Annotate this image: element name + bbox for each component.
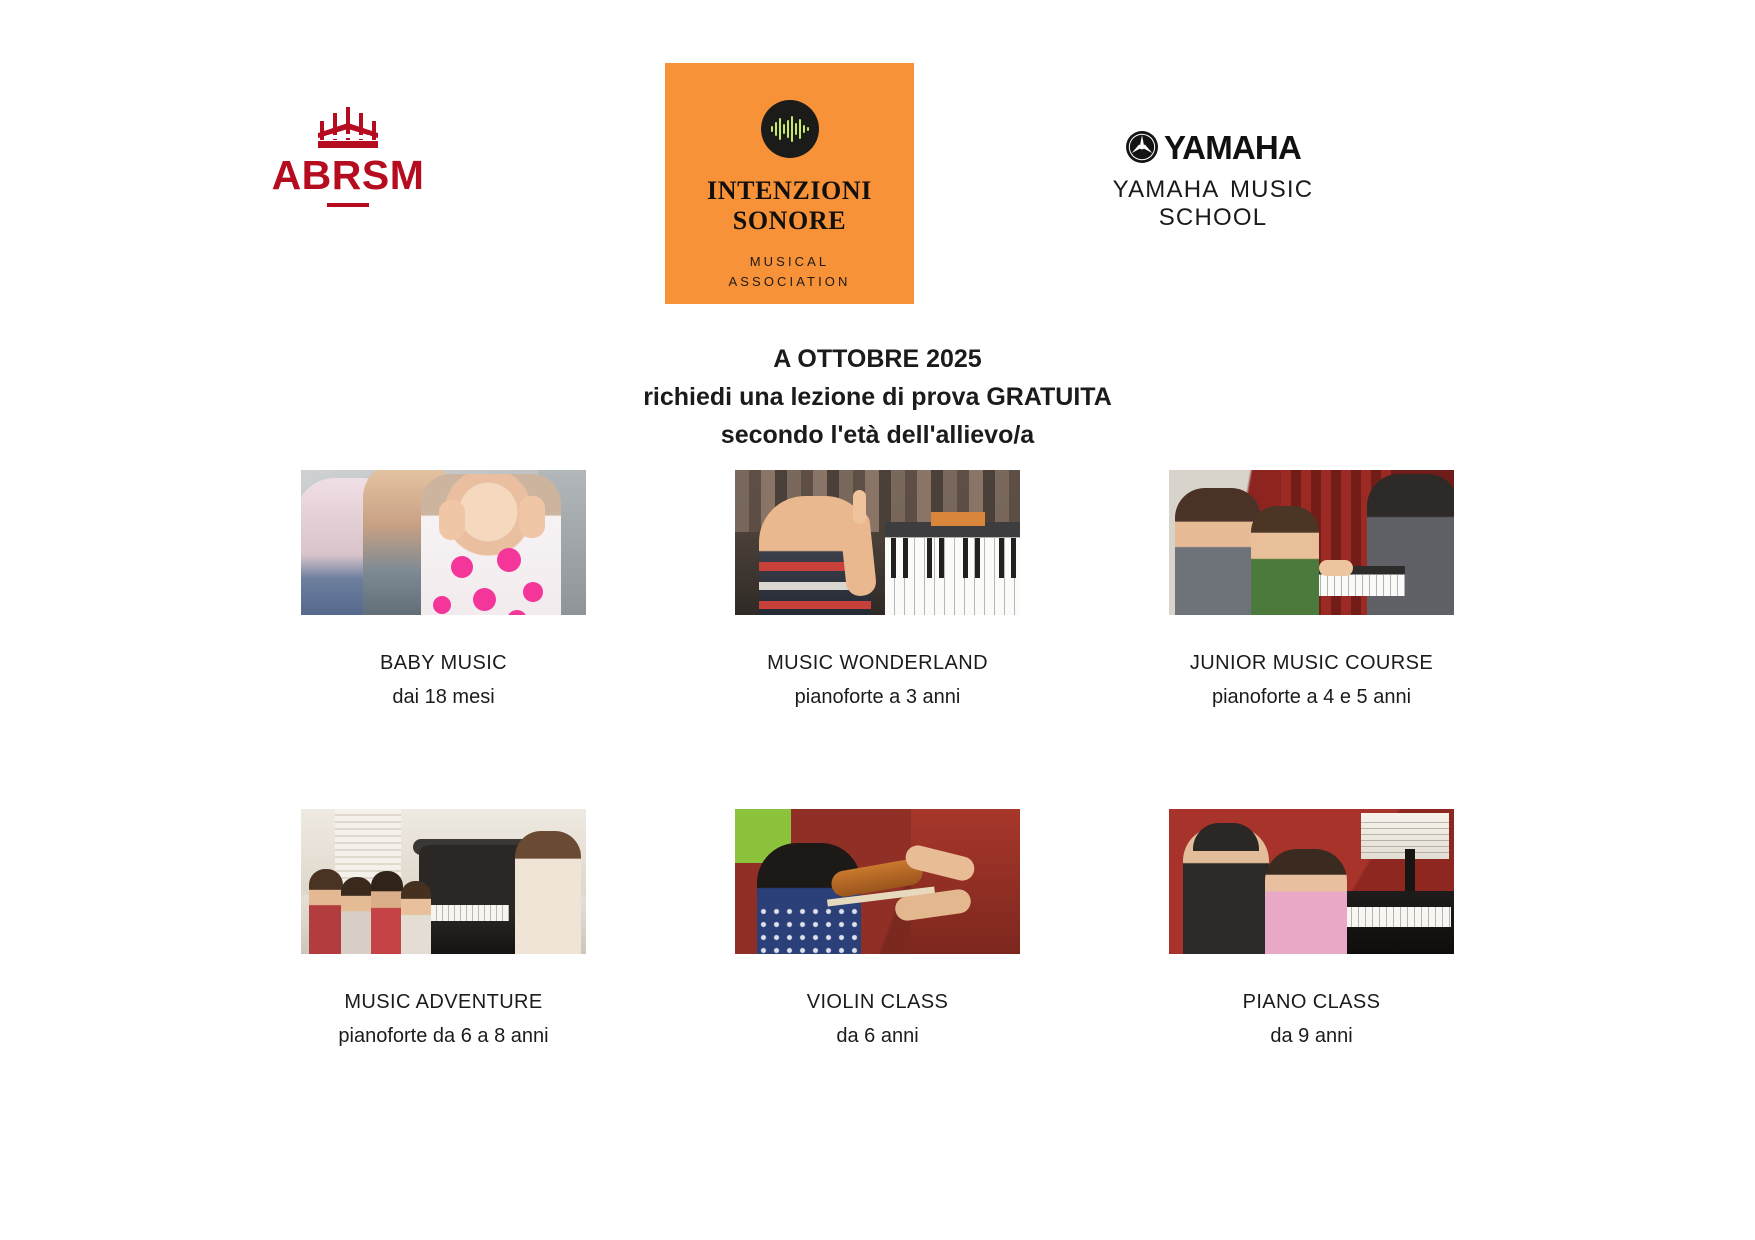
headline-line-2: richiedi una lezione di prova GRATUITA: [0, 378, 1755, 416]
intenzioni-sonore-logo: INTENZIONI SONORE MUSICAL ASSOCIATION: [665, 63, 914, 304]
course-card[interactable]: MUSIC ADVENTURE pianoforte da 6 a 8 anni: [301, 809, 586, 1046]
course-row-1: BABY MUSIC dai 18 mesi MUSIC WONDERLAND …: [0, 470, 1755, 707]
children-at-keyboards-photo: [1169, 470, 1454, 615]
abrsm-logo: ABRSM: [238, 105, 458, 207]
sound-wave-bars: [770, 115, 810, 143]
headline-line-3: secondo l'età dell'allievo/a: [0, 416, 1755, 454]
course-age: da 9 anni: [1169, 1026, 1454, 1046]
course-title: MUSIC ADVENTURE: [301, 992, 586, 1012]
toddlers-clapping-photo: [301, 470, 586, 615]
yamaha-tuning-forks-icon: [1125, 130, 1159, 164]
course-card[interactable]: BABY MUSIC dai 18 mesi: [301, 470, 586, 707]
course-card[interactable]: PIANO CLASS da 9 anni: [1169, 809, 1454, 1046]
brand-title: INTENZIONI SONORE: [665, 176, 914, 236]
boy-at-keyboard-photo: [735, 470, 1020, 615]
abrsm-wordmark: ABRSM: [238, 155, 458, 196]
course-age: pianoforte da 6 a 8 anni: [301, 1026, 586, 1046]
course-title: JUNIOR MUSIC COURSE: [1169, 653, 1454, 673]
brand-subtitle-line-2: ASSOCIATION: [665, 272, 914, 292]
yamaha-wordmark: YAMAHA: [1164, 131, 1301, 164]
child-playing-violin-photo: [735, 809, 1020, 954]
sound-wave-icon: [761, 100, 819, 158]
brand-title-line-2: SONORE: [665, 206, 914, 236]
headline-line-1: A OTTOBRE 2025: [0, 340, 1755, 378]
yamaha-school-label: YAMAHA MUSIC SCHOOL: [1063, 176, 1363, 232]
course-age: pianoforte a 3 anni: [735, 687, 1020, 707]
course-grid: BABY MUSIC dai 18 mesi MUSIC WONDERLAND …: [0, 470, 1755, 1046]
course-title: VIOLIN CLASS: [735, 992, 1020, 1012]
children-around-grand-piano-photo: [301, 809, 586, 954]
teacher-and-girl-at-piano-photo: [1169, 809, 1454, 954]
course-card[interactable]: MUSIC WONDERLAND pianoforte a 3 anni: [735, 470, 1020, 707]
course-card[interactable]: JUNIOR MUSIC COURSE pianoforte a 4 e 5 a…: [1169, 470, 1454, 707]
course-title: MUSIC WONDERLAND: [735, 653, 1020, 673]
abrsm-underline: [327, 203, 369, 207]
course-age: dai 18 mesi: [301, 687, 586, 707]
course-title: BABY MUSIC: [301, 653, 586, 673]
course-age: da 6 anni: [735, 1026, 1020, 1046]
course-age: pianoforte a 4 e 5 anni: [1169, 687, 1454, 707]
yamaha-wordmark-row: YAMAHA: [1063, 130, 1363, 164]
brand-subtitle-line-1: MUSICAL: [665, 252, 914, 272]
course-title: PIANO CLASS: [1169, 992, 1454, 1012]
yamaha-logo: YAMAHA YAMAHA MUSIC SCHOOL: [1063, 130, 1363, 232]
crown-icon: [317, 105, 379, 151]
headline-block: A OTTOBRE 2025 richiedi una lezione di p…: [0, 340, 1755, 454]
logo-row: ABRSM INTENZIONI: [0, 0, 1755, 320]
brand-subtitle: MUSICAL ASSOCIATION: [665, 252, 914, 292]
course-card[interactable]: VIOLIN CLASS da 6 anni: [735, 809, 1020, 1046]
course-row-2: MUSIC ADVENTURE pianoforte da 6 a 8 anni…: [0, 809, 1755, 1046]
brand-title-line-1: INTENZIONI: [665, 176, 914, 206]
